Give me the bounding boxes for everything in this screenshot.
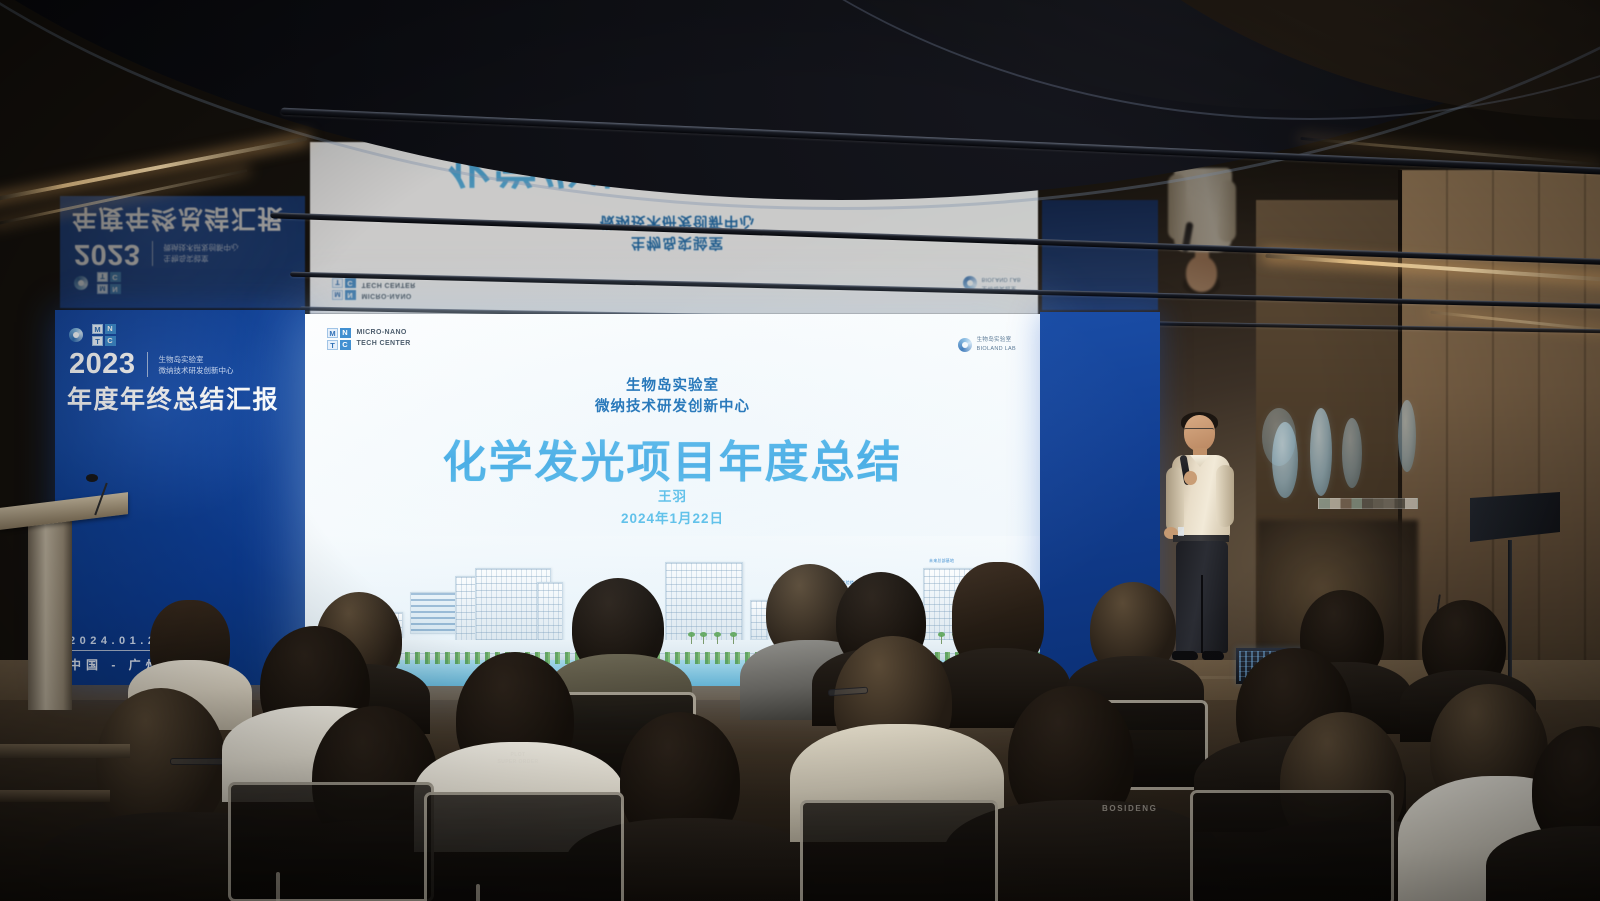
- mntc-logo-icon: MN TC: [92, 324, 116, 346]
- mntc-label-line2: TECH CENTER: [357, 339, 411, 350]
- desk-surface: [0, 744, 130, 758]
- bioland-spiral-icon: [69, 328, 83, 342]
- slide-subtitle: 生物岛实验室 微纳技术研发创新中心: [305, 376, 1040, 417]
- presenter-glasses: [1184, 428, 1214, 434]
- refl-mntc-line2: TECH CENTER: [362, 279, 416, 290]
- wall-oval-art: [1310, 408, 1332, 496]
- hoodie-text-line1: PLOT: [484, 752, 552, 759]
- slide-subtitle-line2: 微纳技术研发创新中心: [305, 397, 1040, 418]
- glasses-icon: [170, 758, 228, 765]
- wall-oval-art: [1398, 400, 1416, 472]
- conference-photo-scene: MN TC 2023 生物岛实验室 微纳技术研发创新中心 年度年终总结汇报: [0, 0, 1600, 901]
- reflection-logos: MN TC: [74, 273, 121, 295]
- wall-color-swatch-bar: [1318, 498, 1418, 509]
- left-panel-logos: MN TC: [69, 324, 116, 346]
- slide-author-block: 王羽 2024年1月22日: [305, 486, 1040, 529]
- mntc-cell-c: C: [340, 340, 351, 350]
- bioland-label-en: BIOLAND LAB: [977, 345, 1016, 354]
- chair: [800, 800, 998, 901]
- slide-author-name: 王羽: [305, 486, 1040, 508]
- mntc-logo-icon: M N T C: [327, 328, 351, 350]
- chair-leg: [476, 884, 480, 901]
- refl-bioland-line2: BIOLAND LAB: [982, 274, 1021, 283]
- presenter-ceiling-reflection: [1164, 172, 1248, 292]
- mntc-cell-n: N: [340, 328, 351, 338]
- reflection-title: 年度年终总结汇报: [72, 202, 284, 238]
- presenter-arm-right: [1216, 465, 1234, 527]
- left-panel-org-line2: 微纳技术研发创新中心: [159, 366, 234, 377]
- mntc-label-line1: MICRO-NANO: [357, 328, 411, 339]
- divider: [147, 352, 148, 377]
- slide-logo-mntc: M N T C MICRO-NANO TECH CENTER: [327, 328, 411, 350]
- slide-date: 2024年1月22日: [305, 508, 1040, 530]
- chair: [228, 782, 434, 901]
- mntc-cell-m: M: [327, 328, 338, 338]
- jacket-brand-text: BOSIDENG: [1102, 804, 1157, 813]
- presenter-arm-left: [1166, 467, 1184, 533]
- refl-mntc-line1: MICRO-NANO: [362, 289, 416, 300]
- chair-leg: [276, 872, 280, 901]
- left-panel-org-line1: 生物岛实验室: [159, 355, 234, 366]
- microphone-icon: [86, 474, 98, 482]
- wall-oval-art: [1342, 418, 1362, 488]
- mntc-cell-t: T: [327, 340, 338, 350]
- chair: [1190, 790, 1394, 901]
- left-panel-title: 年度年终总结汇报: [67, 380, 279, 416]
- slide-logo-bioland: 生物岛实验室 BIOLAND LAB: [958, 336, 1016, 354]
- presentation-slide: M N T C MICRO-NANO TECH CENTER 生物岛实验室 BI…: [305, 314, 1040, 686]
- bioland-label-cn: 生物岛实验室: [977, 336, 1016, 345]
- reflection-org-1: 生物岛实验室: [164, 252, 239, 263]
- wall-oval-art: [1272, 422, 1298, 498]
- render-building-caption: 未来总部基地: [929, 558, 954, 564]
- lectern: [0, 500, 130, 710]
- left-panel-year: 2023: [69, 350, 136, 379]
- left-panel-year-block: 2023 生物岛实验室 微纳技术研发创新中心: [69, 350, 234, 379]
- slide-main-title: 化学发光项目年度总结: [305, 426, 1040, 490]
- reflection-year: 2023: [74, 239, 141, 268]
- bioland-spiral-icon: [958, 338, 972, 352]
- chair: [424, 792, 624, 901]
- reflection-org-2: 微纳技术研发创新中心: [164, 241, 239, 252]
- left-panel-ceiling-reflection: MN TC 2023 生物岛实验室 微纳技术研发创新中心 年度年终总结汇报: [60, 196, 305, 308]
- slide-subtitle-line1: 生物岛实验室: [305, 376, 1040, 397]
- hoodie-text-line2: SUPER ORDER: [484, 759, 552, 766]
- desk-surface: [0, 790, 110, 802]
